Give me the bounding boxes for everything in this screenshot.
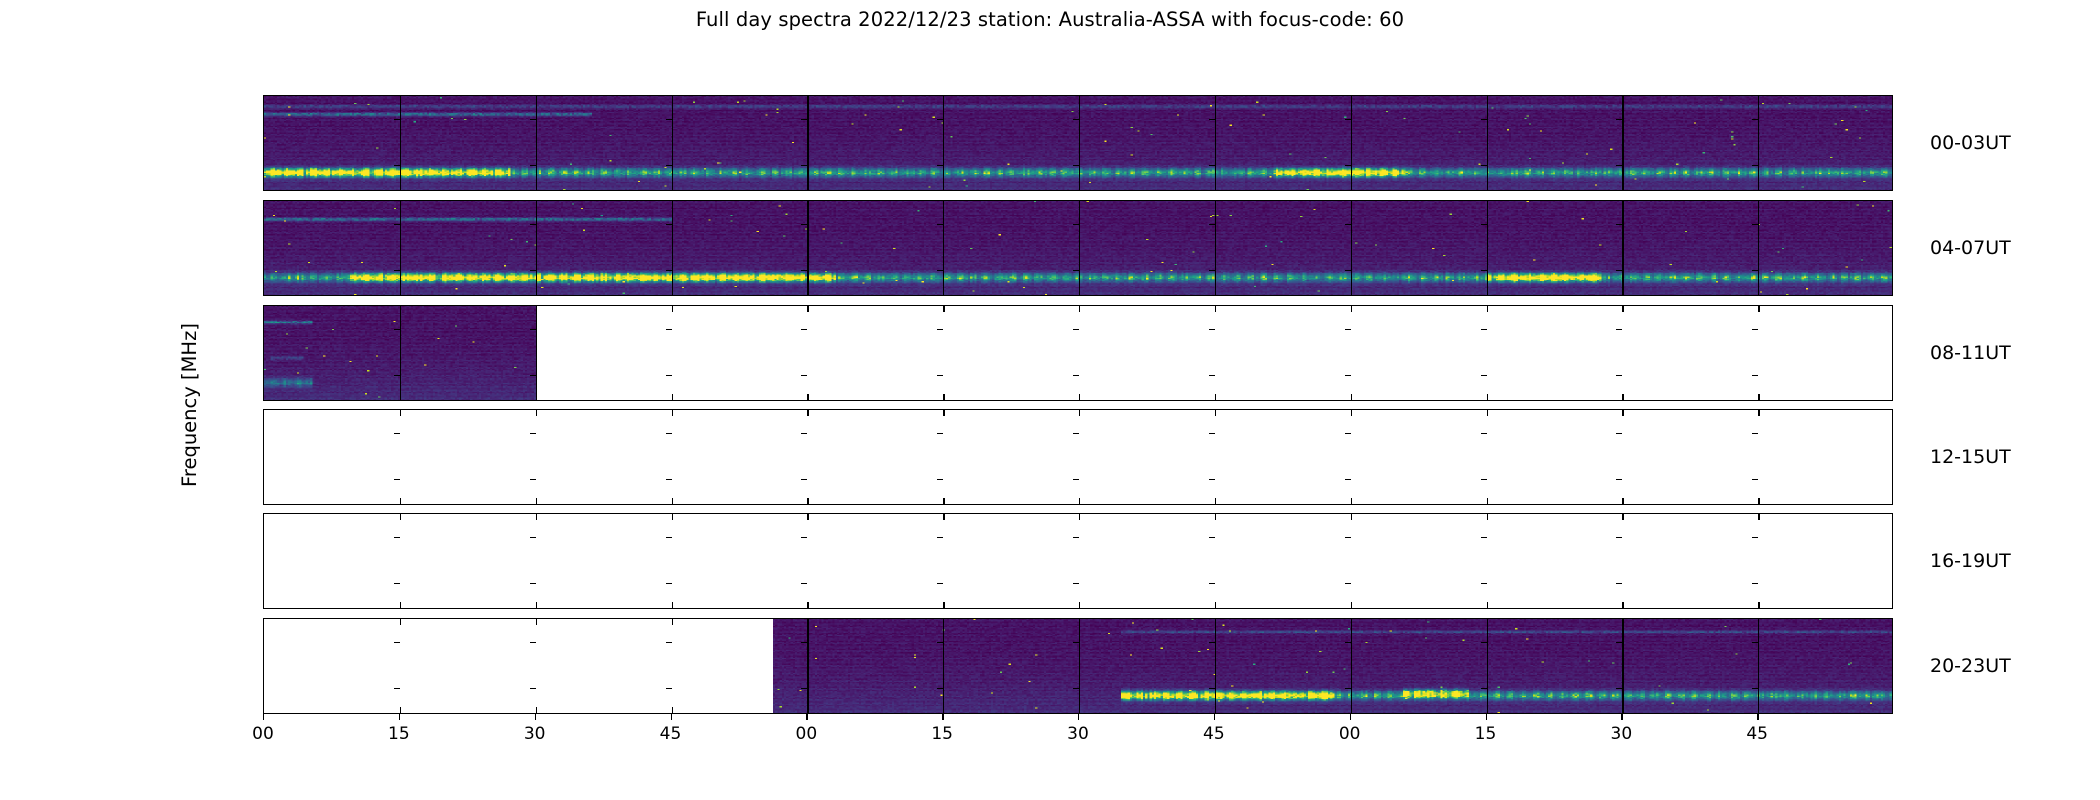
panel-time-label: 00-03UT	[1930, 132, 2011, 154]
spectrogram-panel-04-07ut[interactable]: 200400	[263, 200, 1893, 296]
panel-time-label: 12-15UT	[1930, 446, 2011, 468]
x-tick-mark	[672, 410, 673, 416]
y-tick-mark	[263, 688, 264, 689]
x-axis-tick-mark	[1214, 714, 1215, 720]
x-axis-tick-label: 45	[1746, 724, 1768, 744]
spectrogram-panel-16-19ut[interactable]: 200400	[263, 513, 1893, 609]
y-tick-mark-inner	[666, 479, 672, 480]
x-axis-tick-mark	[535, 714, 536, 720]
x-tick-mark	[672, 394, 673, 400]
y-tick-mark-inner	[801, 583, 807, 584]
y-tick-mark	[263, 224, 264, 225]
y-tick-mark	[263, 270, 264, 271]
y-tick-mark-inner	[394, 583, 400, 584]
spectrogram-panel-12-15ut[interactable]: 200400	[263, 409, 1893, 505]
x-tick-mark	[400, 410, 401, 416]
x-axis-tick-mark	[1757, 714, 1758, 720]
y-tick-mark-inner	[1073, 537, 1079, 538]
x-tick-mark	[1487, 514, 1488, 520]
y-tick-mark-inner	[937, 479, 943, 480]
panel-time-label: 16-19UT	[1930, 550, 2011, 572]
y-tick-mark-inner	[1209, 329, 1215, 330]
y-tick-mark-inner	[1345, 329, 1351, 330]
y-tick-mark-inner	[666, 537, 672, 538]
figure-title: Full day spectra 2022/12/23 station: Aus…	[0, 8, 2100, 31]
x-tick-mark	[1351, 306, 1352, 312]
y-tick-mark-inner	[1752, 433, 1758, 434]
x-tick-mark	[1622, 410, 1623, 416]
x-tick-mark	[1079, 306, 1080, 312]
x-axis-tick-label: 15	[388, 724, 410, 744]
x-tick-mark	[536, 619, 537, 625]
x-axis-tick-label: 00	[1339, 724, 1361, 744]
x-tick-mark	[807, 306, 808, 312]
x-tick-mark	[400, 707, 401, 713]
x-tick-mark	[1215, 306, 1216, 312]
x-tick-mark	[1351, 394, 1352, 400]
y-tick-mark-inner	[1481, 537, 1487, 538]
x-tick-mark	[943, 306, 944, 312]
y-tick-mark-inner	[1209, 479, 1215, 480]
x-tick-mark	[400, 619, 401, 625]
spectrogram-panel-20-23ut[interactable]: 200400	[263, 618, 1893, 714]
x-tick-mark	[1215, 514, 1216, 520]
x-tick-mark	[1622, 602, 1623, 608]
x-tick-mark	[1758, 306, 1759, 312]
x-tick-mark	[1758, 410, 1759, 416]
x-axis-tick-label: 30	[524, 724, 546, 744]
x-tick-mark	[1622, 514, 1623, 520]
x-tick-mark	[943, 602, 944, 608]
y-tick-mark-inner	[666, 375, 672, 376]
y-tick-mark-inner	[1752, 479, 1758, 480]
y-tick-mark-inner	[394, 479, 400, 480]
y-tick-mark-inner	[1345, 375, 1351, 376]
y-tick-mark-inner	[666, 329, 672, 330]
x-tick-mark	[672, 619, 673, 625]
y-tick-mark-inner	[1345, 537, 1351, 538]
x-tick-mark	[400, 514, 401, 520]
x-tick-mark	[1622, 498, 1623, 504]
x-tick-mark	[807, 410, 808, 416]
y-tick-mark-inner	[937, 329, 943, 330]
y-tick-mark-inner	[530, 642, 536, 643]
x-tick-mark	[807, 498, 808, 504]
x-tick-mark	[1351, 602, 1352, 608]
y-tick-mark-inner	[1209, 537, 1215, 538]
x-tick-mark	[1622, 394, 1623, 400]
x-tick-mark	[807, 394, 808, 400]
y-tick-mark-inner	[394, 433, 400, 434]
x-tick-mark	[807, 602, 808, 608]
y-tick-mark-inner	[1616, 433, 1622, 434]
x-axis-tick-label: 45	[1203, 724, 1225, 744]
y-tick-mark-inner	[1481, 479, 1487, 480]
y-tick-mark-inner	[394, 642, 400, 643]
y-tick-mark-inner	[1481, 375, 1487, 376]
x-tick-mark	[1622, 306, 1623, 312]
spectrogram-image	[773, 619, 1893, 713]
x-tick-mark	[1758, 602, 1759, 608]
spectrogram-canvas	[264, 306, 536, 400]
x-axis-tick-mark	[806, 714, 807, 720]
x-axis-tick-label: 00	[796, 724, 818, 744]
y-tick-mark-inner	[1616, 583, 1622, 584]
x-tick-mark	[1758, 514, 1759, 520]
x-tick-mark	[1487, 602, 1488, 608]
x-tick-mark	[1079, 394, 1080, 400]
y-tick-mark	[263, 119, 264, 120]
y-tick-mark	[263, 537, 264, 538]
y-tick-mark-inner	[1752, 583, 1758, 584]
x-tick-mark	[1487, 498, 1488, 504]
y-tick-mark	[263, 583, 264, 584]
panel-time-label: 20-23UT	[1930, 655, 2011, 677]
y-tick-mark-inner	[937, 375, 943, 376]
y-tick-mark-inner	[801, 537, 807, 538]
x-axis-tick-label: 15	[1475, 724, 1497, 744]
x-tick-mark	[1079, 498, 1080, 504]
y-tick-mark-inner	[1752, 329, 1758, 330]
y-tick-mark	[263, 433, 264, 434]
x-tick-mark	[1487, 306, 1488, 312]
spectrogram-panel-08-11ut[interactable]: 200400	[263, 305, 1893, 401]
y-tick-mark-inner	[530, 537, 536, 538]
y-tick-mark-inner	[801, 479, 807, 480]
y-tick-mark-inner	[1616, 329, 1622, 330]
x-tick-mark	[672, 707, 673, 713]
y-tick-mark-inner	[937, 433, 943, 434]
x-tick-mark	[943, 394, 944, 400]
x-axis-tick-label: 30	[1067, 724, 1089, 744]
x-tick-mark	[672, 602, 673, 608]
x-tick-mark	[1351, 410, 1352, 416]
x-tick-mark	[1487, 394, 1488, 400]
panel-time-label: 08-11UT	[1930, 342, 2011, 364]
y-tick-mark-inner	[1073, 329, 1079, 330]
y-tick-mark-inner	[801, 329, 807, 330]
y-tick-mark-inner	[1752, 375, 1758, 376]
x-tick-mark	[1215, 394, 1216, 400]
y-tick-mark	[263, 165, 264, 166]
x-axis-tick-label: 30	[1611, 724, 1633, 744]
y-tick-mark-inner	[1345, 479, 1351, 480]
x-axis-tick-mark	[671, 714, 672, 720]
x-tick-mark	[807, 514, 808, 520]
x-tick-mark	[1215, 602, 1216, 608]
y-tick-mark-inner	[1209, 433, 1215, 434]
y-tick-mark-inner	[666, 433, 672, 434]
x-axis-tick-label: 15	[931, 724, 953, 744]
y-tick-mark	[263, 479, 264, 480]
x-tick-mark	[1215, 410, 1216, 416]
x-tick-mark	[536, 498, 537, 504]
x-tick-mark	[943, 514, 944, 520]
y-tick-mark-inner	[1616, 375, 1622, 376]
x-tick-mark	[1351, 514, 1352, 520]
y-tick-mark-inner	[530, 688, 536, 689]
y-tick-mark	[263, 375, 264, 376]
spectrogram-panel-00-03ut[interactable]: 200400	[263, 95, 1893, 191]
y-tick-mark-inner	[1073, 479, 1079, 480]
y-tick-mark-inner	[530, 479, 536, 480]
x-tick-mark	[536, 602, 537, 608]
y-tick-mark-inner	[530, 433, 536, 434]
spectrogram-canvas	[264, 96, 1893, 190]
y-tick-mark-inner	[394, 688, 400, 689]
x-tick-mark	[1079, 410, 1080, 416]
spectrogram-figure: Full day spectra 2022/12/23 station: Aus…	[0, 0, 2100, 800]
y-tick-mark-inner	[1209, 583, 1215, 584]
x-tick-mark	[943, 410, 944, 416]
x-tick-mark	[536, 514, 537, 520]
y-axis-title-text: Frequency [MHz]	[178, 95, 201, 715]
y-tick-mark-inner	[1073, 433, 1079, 434]
x-axis-tick-mark	[399, 714, 400, 720]
x-tick-mark	[536, 707, 537, 713]
y-tick-mark-inner	[801, 433, 807, 434]
y-tick-mark	[263, 329, 264, 330]
y-tick-mark-inner	[1616, 479, 1622, 480]
y-tick-mark-inner	[666, 583, 672, 584]
y-tick-mark-inner	[1345, 433, 1351, 434]
y-tick-mark-inner	[1073, 375, 1079, 376]
y-tick-mark	[263, 642, 264, 643]
y-tick-mark-inner	[1073, 583, 1079, 584]
y-tick-mark-inner	[1481, 433, 1487, 434]
spectrogram-image	[264, 96, 1893, 190]
x-axis-tick-label: 45	[660, 724, 682, 744]
spectrogram-canvas	[773, 619, 1893, 713]
x-tick-mark	[1079, 514, 1080, 520]
x-axis-tick-mark	[1078, 714, 1079, 720]
y-tick-mark-inner	[1481, 329, 1487, 330]
y-tick-mark-inner	[1752, 537, 1758, 538]
y-tick-mark-inner	[394, 537, 400, 538]
spectrogram-canvas	[264, 201, 1893, 295]
x-tick-mark	[943, 498, 944, 504]
y-tick-mark-inner	[1481, 583, 1487, 584]
y-tick-mark-inner	[530, 583, 536, 584]
x-axis-tick-label: 00	[252, 724, 274, 744]
y-tick-mark-inner	[937, 583, 943, 584]
x-axis-tick-mark	[942, 714, 943, 720]
x-tick-mark	[400, 602, 401, 608]
x-tick-mark	[672, 498, 673, 504]
y-tick-mark-inner	[937, 537, 943, 538]
x-axis-tick-mark	[263, 714, 264, 720]
x-axis-tick-mark	[1486, 714, 1487, 720]
y-tick-mark-inner	[1345, 583, 1351, 584]
x-axis-tick-mark	[1350, 714, 1351, 720]
x-tick-mark	[536, 410, 537, 416]
panel-divider	[536, 306, 537, 400]
x-tick-mark	[1215, 498, 1216, 504]
spectrogram-image	[264, 201, 1893, 295]
x-tick-mark	[1758, 394, 1759, 400]
panel-time-label: 04-07UT	[1930, 237, 2011, 259]
x-tick-mark	[1487, 410, 1488, 416]
spectrogram-image	[264, 306, 536, 400]
x-tick-mark	[672, 514, 673, 520]
x-tick-mark	[400, 498, 401, 504]
x-tick-mark	[1079, 602, 1080, 608]
y-tick-mark-inner	[1616, 537, 1622, 538]
x-axis-tick-mark	[1621, 714, 1622, 720]
y-tick-mark-inner	[801, 375, 807, 376]
y-tick-mark-inner	[1209, 375, 1215, 376]
x-tick-mark	[672, 306, 673, 312]
y-tick-mark-inner	[666, 688, 672, 689]
x-tick-mark	[1758, 498, 1759, 504]
x-tick-mark	[1351, 498, 1352, 504]
y-tick-mark-inner	[666, 642, 672, 643]
